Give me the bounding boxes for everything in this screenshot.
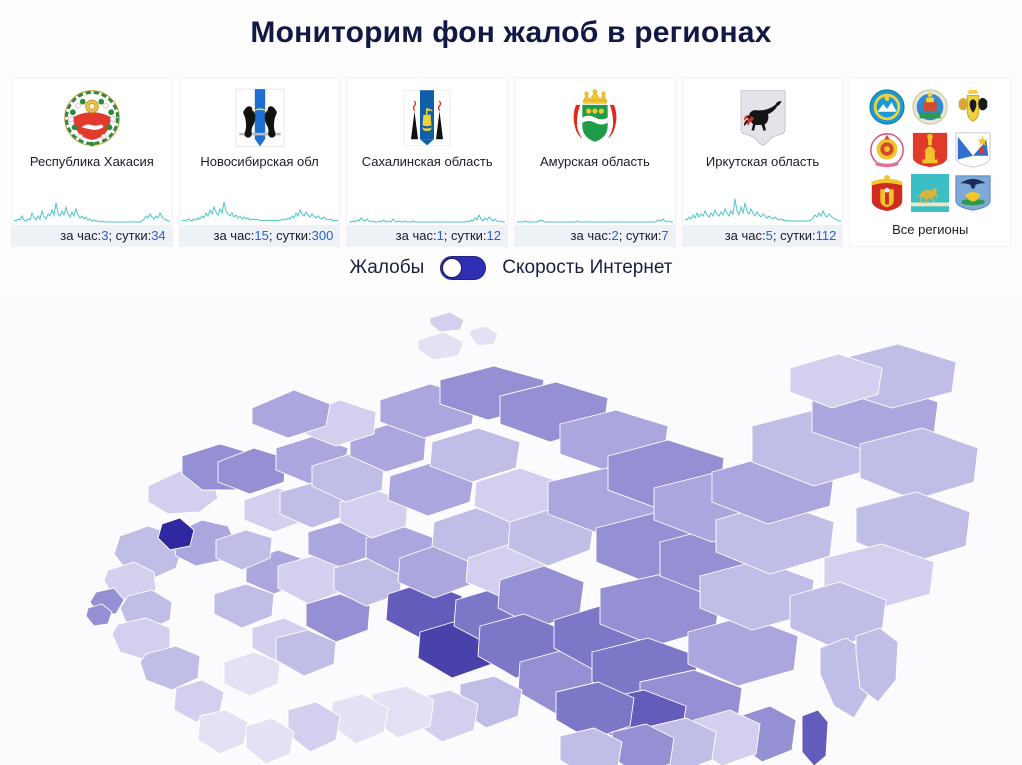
region-name: Сахалинская область bbox=[362, 154, 493, 170]
hour-label: за час: bbox=[214, 228, 255, 243]
day-label: ; сутки: bbox=[773, 228, 816, 243]
khakassia-coat-of-arms-icon bbox=[63, 78, 121, 152]
day-value: 112 bbox=[816, 228, 837, 243]
irkutsk-coat-of-arms-icon bbox=[738, 78, 788, 152]
sparkline-chart bbox=[515, 188, 675, 224]
hour-label: за час: bbox=[571, 228, 612, 243]
day-label: ; сутки: bbox=[269, 228, 312, 243]
day-value: 34 bbox=[151, 228, 165, 243]
region-name: Иркутская область bbox=[706, 154, 819, 170]
day-value: 300 bbox=[312, 228, 334, 243]
hour-label: за час: bbox=[60, 228, 101, 243]
sparkline-chart bbox=[347, 188, 507, 224]
all-regions-label: Все регионы bbox=[892, 222, 968, 237]
day-value: 7 bbox=[661, 228, 668, 243]
toggle-left-label[interactable]: Жалобы bbox=[350, 257, 425, 279]
sparkline-chart bbox=[12, 188, 172, 224]
card-stats-footer: за час:3; сутки:34 bbox=[12, 225, 172, 246]
belgorod-mini-emblem-icon bbox=[954, 174, 992, 212]
day-label: ; сутки: bbox=[619, 228, 662, 243]
metric-toggle-switch[interactable] bbox=[440, 256, 486, 280]
hour-value: 5 bbox=[766, 228, 773, 243]
region-cards-row: Республика Хакасия за час:3; сутки:34 bbox=[12, 78, 1010, 246]
amur-coat-of-arms-icon bbox=[568, 78, 622, 152]
sakhalin-coat-of-arms-icon bbox=[402, 78, 452, 152]
hour-value: 2 bbox=[611, 228, 618, 243]
irkutsk-mini-emblem-icon bbox=[954, 131, 992, 169]
card-stats-footer: за час:15; сутки:300 bbox=[180, 225, 340, 246]
ryazan-mini-emblem-icon bbox=[868, 174, 906, 212]
day-label: ; сутки: bbox=[108, 228, 151, 243]
hour-label: за час: bbox=[725, 228, 766, 243]
novosibirsk-coat-of-arms-icon bbox=[234, 78, 286, 152]
day-label: ; сутки: bbox=[444, 228, 487, 243]
sverdlovsk-mini-emblem-icon bbox=[911, 131, 949, 169]
card-stats-footer: за час:5; сутки:112 bbox=[683, 225, 843, 246]
hour-value: 1 bbox=[437, 228, 444, 243]
sparkline-chart bbox=[683, 188, 843, 224]
dashboard-root: Мониторим фон жалоб в регионах bbox=[0, 0, 1022, 765]
day-value: 12 bbox=[487, 228, 501, 243]
region-card[interactable]: Новосибирская обл за час:15; сутки:300 bbox=[180, 78, 340, 246]
hour-label: за час: bbox=[396, 228, 437, 243]
region-name: Амурская область bbox=[540, 154, 650, 170]
kalmykia-mini-emblem-icon bbox=[868, 131, 906, 169]
page-title: Мониторим фон жалоб в регионах bbox=[0, 0, 1022, 52]
region-card[interactable]: Иркутская область за час:5; сутки:112 bbox=[683, 78, 843, 246]
region-name: Республика Хакасия bbox=[30, 154, 154, 170]
region-card[interactable]: Амурская область за час:2; сутки:7 bbox=[515, 78, 675, 246]
altai-krai-mini-emblem-icon bbox=[911, 88, 949, 126]
metric-toggle-row: Жалобы Скорость Интернет bbox=[0, 256, 1022, 280]
tuva-mini-emblem-icon bbox=[911, 174, 949, 212]
all-regions-emblem-grid bbox=[868, 88, 992, 212]
card-stats-footer: за час:1; сутки:12 bbox=[347, 225, 507, 246]
hour-value: 15 bbox=[254, 228, 268, 243]
sparkline-chart bbox=[180, 188, 340, 224]
yaroslavl-mini-emblem-icon bbox=[954, 88, 992, 126]
hour-value: 3 bbox=[101, 228, 108, 243]
region-name: Новосибирская обл bbox=[200, 154, 318, 170]
russia-choropleth-map[interactable] bbox=[0, 296, 1022, 765]
all-regions-card[interactable]: Все регионы bbox=[850, 78, 1010, 246]
toggle-right-label[interactable]: Скорость Интернет bbox=[502, 257, 672, 279]
khakassia-mini-emblem-icon bbox=[868, 88, 906, 126]
region-card[interactable]: Сахалинская область за час:1; сутки:12 bbox=[347, 78, 507, 246]
region-card[interactable]: Республика Хакасия за час:3; сутки:34 bbox=[12, 78, 172, 246]
card-stats-footer: за час:2; сутки:7 bbox=[515, 225, 675, 246]
toggle-knob bbox=[442, 258, 462, 278]
